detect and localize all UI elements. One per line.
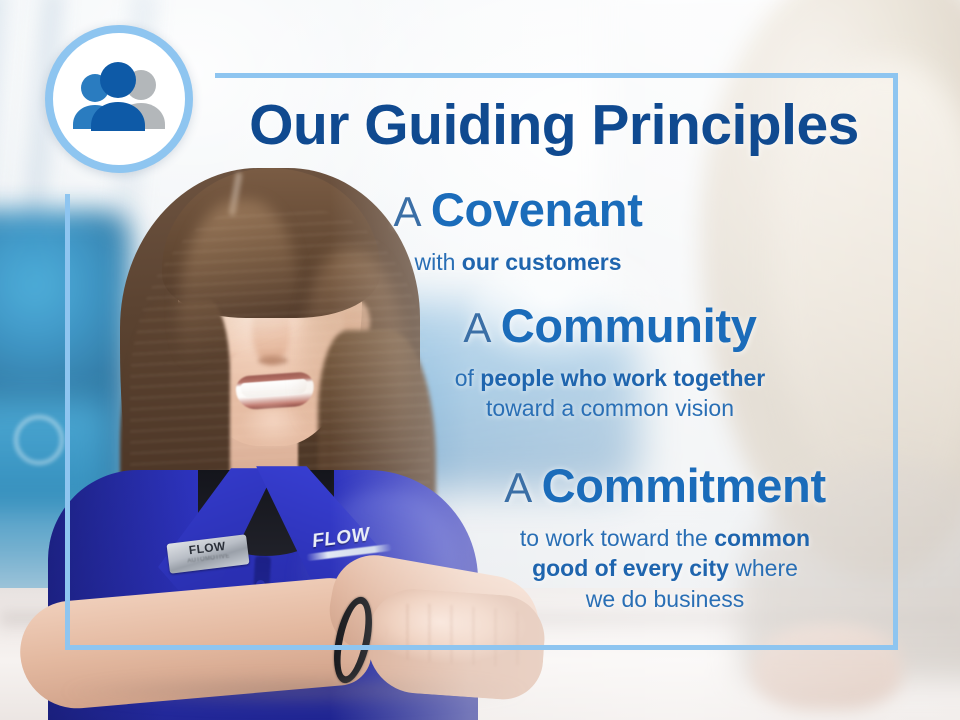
subtext-segment: where	[729, 555, 798, 581]
people-group-badge	[45, 25, 193, 173]
arm-shadow-on-desk	[60, 678, 530, 708]
frame-border-top	[215, 73, 898, 78]
subtext-segment-bold: good of every city	[532, 555, 729, 581]
frame-border-right	[893, 73, 898, 650]
principle-article: A	[504, 464, 541, 511]
frame-border-bottom	[65, 645, 898, 650]
subtext-segment: toward a common vision	[486, 395, 734, 421]
subtext-segment-bold: our customers	[462, 249, 622, 275]
subtext-line: good of every city where	[440, 553, 890, 583]
subtext-line: toward a common vision	[385, 393, 835, 423]
subtext-segment: we do business	[586, 586, 745, 612]
principle-keyword: Covenant	[431, 183, 643, 236]
frame-border-left	[65, 194, 70, 650]
principle-keyword: Community	[501, 299, 757, 352]
subtext-segment: to work toward the	[520, 525, 714, 551]
subtext-segment: with	[414, 249, 461, 275]
subtext-segment-bold: common	[714, 525, 810, 551]
principle-covenant: A Covenant with our customers	[333, 186, 703, 277]
principle-keyword: Commitment	[542, 459, 826, 512]
principle-heading: A Commitment	[440, 462, 890, 509]
subtext-segment-bold: people who work together	[480, 365, 765, 391]
guiding-principles-graphic: FLOW FLOW AUTOMOTIVE	[0, 0, 960, 720]
subtext-line: to work toward the common	[440, 523, 890, 553]
principle-subtext: with our customers	[333, 247, 703, 277]
principle-heading: A Covenant	[333, 186, 703, 233]
page-title: Our Guiding Principles	[215, 96, 893, 154]
principle-subtext: to work toward the common good of every …	[440, 523, 890, 614]
principle-community: A Community of people who work together …	[385, 302, 835, 424]
subtext-line: we do business	[440, 584, 890, 614]
people-group-icon	[67, 61, 171, 137]
subtext-line: with our customers	[333, 247, 703, 277]
subtext-segment: of	[455, 365, 481, 391]
subtext-line: of people who work together	[385, 363, 835, 393]
principle-heading: A Community	[385, 302, 835, 349]
customer-hand	[752, 624, 902, 710]
principle-article: A	[463, 304, 500, 351]
principle-subtext: of people who work together toward a com…	[385, 363, 835, 424]
principle-article: A	[393, 188, 430, 235]
principle-commitment: A Commitment to work toward the common g…	[440, 462, 890, 614]
